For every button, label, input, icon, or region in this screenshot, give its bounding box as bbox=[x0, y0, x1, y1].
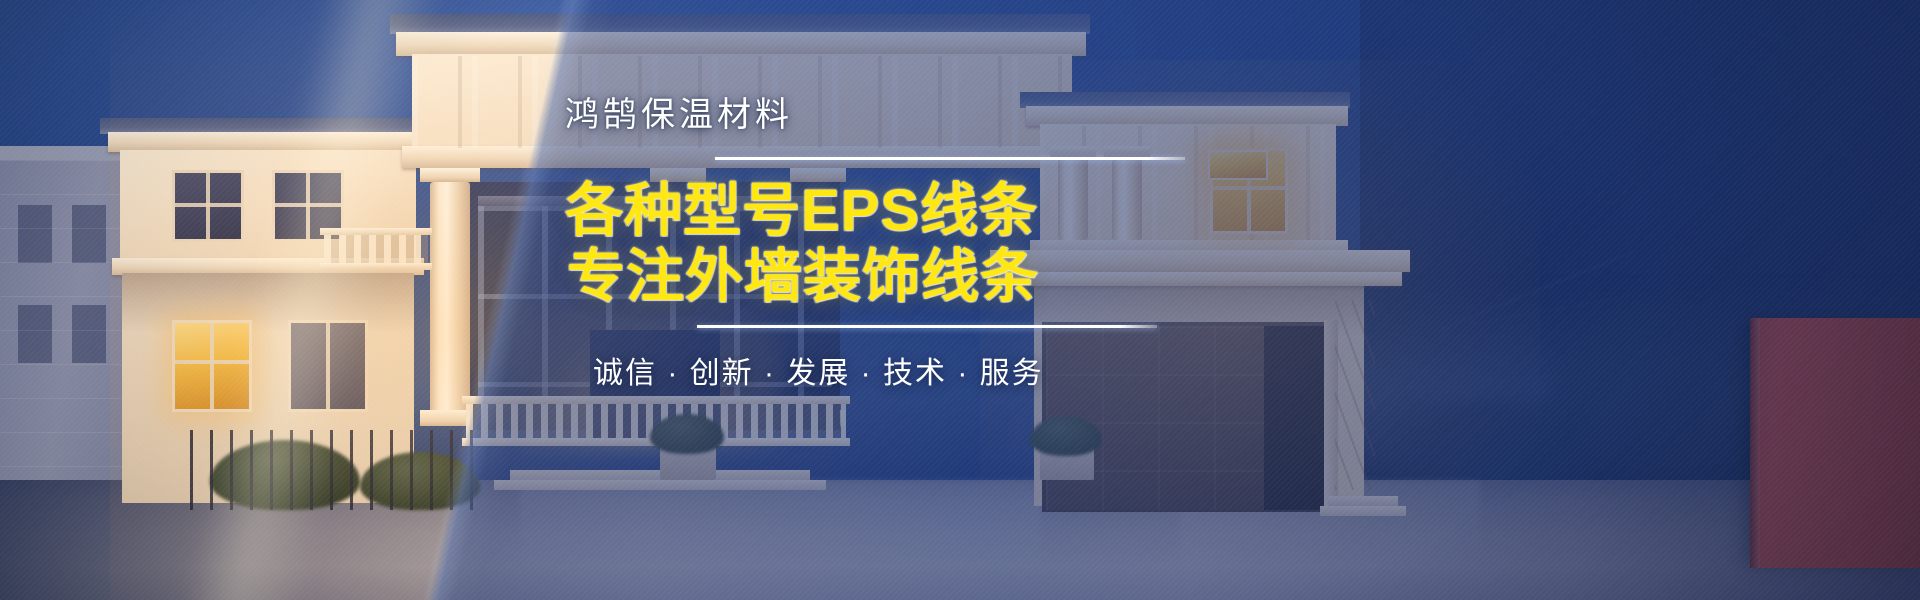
headline-line-1: 各种型号EPS线条 bbox=[565, 178, 1205, 244]
balustrade-rail bbox=[462, 396, 850, 404]
headline-line-2: 专注外墙装饰线条 bbox=[565, 244, 1205, 310]
tagline: 诚信 · 创新 · 发展 · 技术 · 服务 bbox=[565, 348, 1205, 392]
shrub bbox=[650, 414, 724, 454]
window-mullion bbox=[210, 323, 214, 409]
left-wing-shadow bbox=[122, 273, 414, 333]
small-balcony-balustrade bbox=[324, 235, 428, 263]
window-transom bbox=[175, 360, 249, 364]
red-wall-edge bbox=[1750, 318, 1760, 568]
entry-step bbox=[494, 480, 826, 490]
column-capital bbox=[420, 168, 480, 182]
divider-top bbox=[715, 157, 1185, 160]
promo-banner: 鸿鹄保温材料 各种型号EPS线条 专注外墙装饰线条 诚信 · 创新 · 发展 ·… bbox=[0, 0, 1920, 600]
window-transom bbox=[275, 203, 341, 207]
banner-copy: 鸿鹄保温材料 各种型号EPS线条 专注外墙装饰线条 诚信 · 创新 · 发展 ·… bbox=[565, 96, 1205, 392]
shrub bbox=[1030, 416, 1102, 456]
column bbox=[430, 182, 470, 412]
left-wing-cornice bbox=[108, 132, 426, 152]
divider-bottom bbox=[697, 325, 1157, 328]
red-wall bbox=[1750, 318, 1920, 568]
center-roof bbox=[390, 14, 1090, 34]
garage-interior bbox=[1264, 326, 1324, 510]
small-balcony-rail bbox=[320, 228, 432, 235]
lit-window bbox=[1208, 150, 1268, 180]
fence-railing bbox=[190, 430, 480, 510]
small-balcony-base bbox=[320, 263, 432, 270]
company-name: 鸿鹄保温材料 bbox=[565, 96, 1205, 135]
garage-step bbox=[1328, 496, 1398, 506]
branch-shadow bbox=[1335, 300, 1375, 490]
window-transom bbox=[1213, 186, 1285, 190]
window-transom bbox=[175, 203, 241, 207]
headline: 各种型号EPS线条 专注外墙装饰线条 bbox=[565, 178, 1205, 309]
garage-step bbox=[1320, 506, 1406, 516]
window-mullion bbox=[326, 323, 330, 409]
center-cornice-top bbox=[396, 32, 1086, 56]
